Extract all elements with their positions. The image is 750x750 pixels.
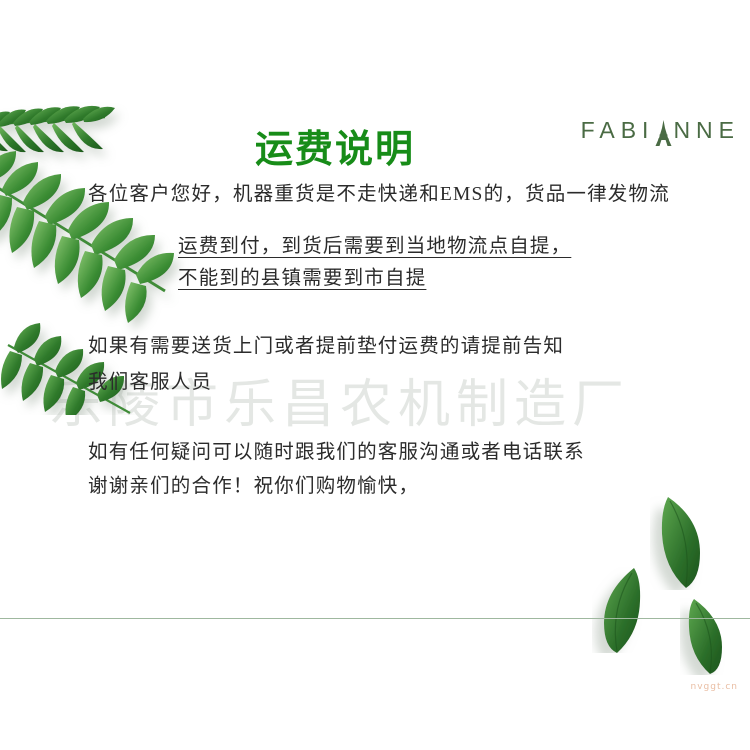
body-line-1: 各位客户您好，机器重货是不走快递和EMS的，货品一律发物流 — [88, 178, 670, 212]
body-line-4: 如果有需要送货上门或者提前垫付运费的请提前告知 — [88, 330, 564, 364]
brand-text-after: NNE — [673, 117, 740, 144]
page-title: 运费说明 — [255, 118, 415, 173]
body-line-7: 谢谢亲们的合作！祝你们购物愉快， — [88, 470, 419, 504]
body-underlined-line-1: 运费到付，到货后需要到当地物流点自提， — [178, 230, 571, 264]
body-underlined-line-2: 不能到的县镇需要到市自提 — [178, 262, 426, 296]
brand-text-before: FABI — [581, 117, 655, 144]
content-area: 运费说明 FABI NNE 各位客户您好，机器重货是不走快递和EMS的，货品一律… — [0, 0, 750, 750]
body-line-5: 我们客服人员 — [88, 366, 212, 400]
brand-logo: FABI NNE — [581, 117, 740, 144]
eiffel-tower-icon — [654, 120, 673, 146]
body-line-6: 如有任何疑问可以随时跟我们的客服沟通或者电话联系 — [88, 436, 585, 470]
promo-page: 乐陵市乐昌农机制造厂 nvggt.cn — [0, 0, 750, 750]
